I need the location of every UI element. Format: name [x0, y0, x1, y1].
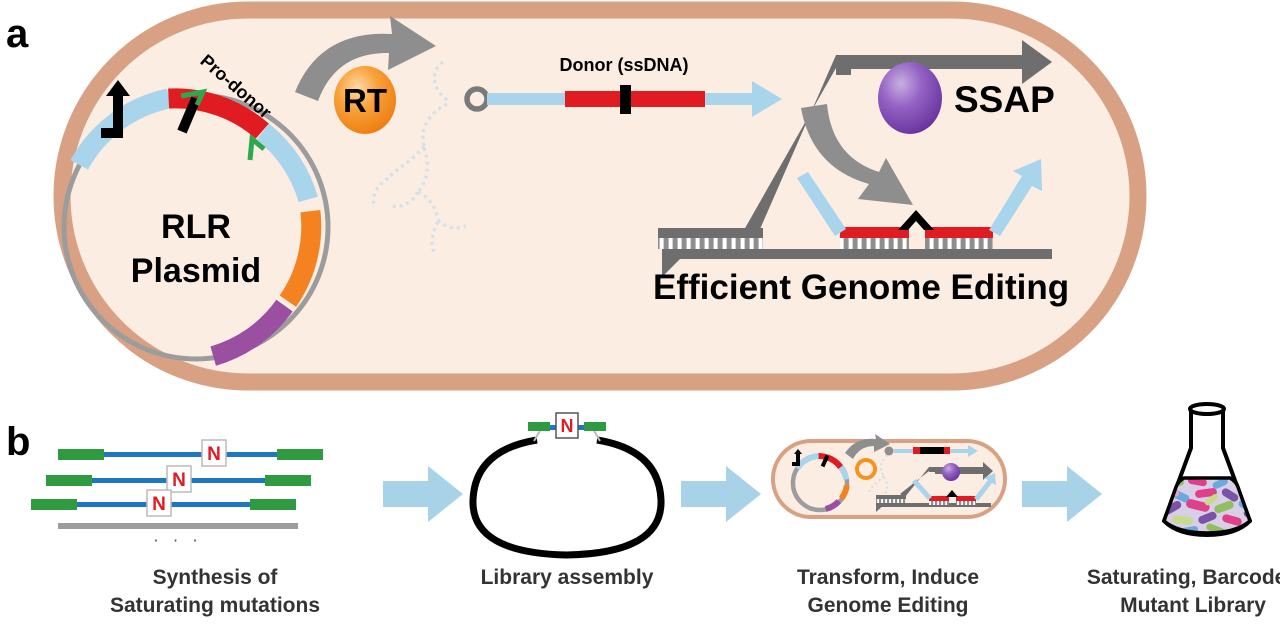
mini-annealed-core-right: [956, 496, 976, 501]
annealed-core-left: [840, 227, 909, 238]
step-library-label-line1: Library assembly: [481, 566, 654, 589]
oligo-adapter-left: [58, 449, 104, 460]
flow-arrow-1-icon: [383, 466, 463, 522]
reference-template-line: [58, 523, 298, 529]
mutation-marker-label: N: [207, 444, 221, 465]
mutation-marker-label: N: [561, 416, 574, 436]
step-transform-label-line1: Transform, Induce: [797, 566, 979, 589]
oligo-row-1: N: [58, 440, 323, 466]
annealed-core-right: [925, 227, 993, 238]
step-synthesis-label-line2: Saturating mutations: [110, 594, 320, 617]
panel-a: a: [6, 10, 1138, 382]
donor-core: [565, 91, 705, 107]
ellipsis-label: ⋅ ⋅ ⋅: [153, 533, 202, 550]
donor-arm-left: [487, 93, 565, 105]
mini-fork-basepairs: [876, 499, 906, 503]
rt-enzyme: RT: [334, 66, 396, 134]
insert-adapter-right: [584, 422, 606, 431]
annealed-basepairs-left: [840, 238, 909, 249]
mini-annealed-bp-right: [956, 501, 976, 505]
efficient-genome-editing-label: Efficient Genome Editing: [653, 268, 1069, 307]
step-transform-label-line2: Genome Editing: [807, 594, 968, 617]
oligo-row-3: N: [31, 490, 296, 516]
oligo-adapter-right: [250, 499, 296, 510]
step-transform-induce: Transform, Induce Genome Editing: [773, 434, 1005, 617]
mini-donor-mutation: [920, 447, 944, 454]
step-library-label-line1: Saturating, Barcoded: [1087, 566, 1280, 589]
step-synthesis-label-line1: Synthesis of: [153, 566, 279, 589]
annealed-basepairs-right: [925, 238, 993, 249]
plasmid-title-line2: Plasmid: [131, 252, 261, 290]
fork-basepairs: [658, 238, 763, 249]
rt-label: RT: [343, 82, 387, 119]
step-library-assembly: N Library assembly: [473, 413, 661, 589]
donor-5prime-circle: [467, 89, 487, 109]
mini-ssap-bubble: [942, 463, 960, 481]
mutation-marker-label: N: [152, 494, 166, 515]
figure-svg: a: [0, 0, 1280, 624]
ssap-bubble: [878, 62, 942, 134]
donor-label: Donor (ssDNA): [560, 55, 689, 75]
fork-lagging-strand: [662, 249, 1052, 259]
mini-donor-circle: [885, 447, 894, 456]
oligo-adapter-left: [31, 499, 77, 510]
panel-b-letter: b: [6, 420, 30, 464]
mini-annealed-core-left: [929, 496, 949, 501]
mini-donor-arm-right: [950, 449, 970, 453]
fork-duplex-top: [658, 228, 763, 238]
plasmid-title-line1: RLR: [161, 208, 231, 246]
mini-annealed-bp-left: [929, 501, 949, 505]
figure-root: a: [0, 0, 1280, 624]
flask-mouth: [1190, 404, 1224, 414]
step-library-label-line2: Mutant Library: [1120, 594, 1266, 617]
mutation-marker-label: N: [172, 470, 186, 491]
oligo-adapter-left: [46, 475, 92, 486]
ssap-label: SSAP: [954, 79, 1055, 120]
flow-arrow-3-icon: [1022, 466, 1102, 522]
oligo-adapter-right: [277, 449, 323, 460]
step-synthesis: N N N ⋅ ⋅ ⋅ Synthesis of Saturating muta…: [31, 440, 323, 617]
donor-arm-right: [705, 93, 760, 105]
donor-mutation-marker: [620, 85, 631, 114]
oligo-row-2: N: [46, 466, 311, 492]
insert-adapter-left: [528, 422, 550, 431]
flow-arrow-2-icon: [681, 466, 761, 522]
step-mutant-library: Saturating, Barcoded Mutant Library: [1087, 404, 1280, 617]
panel-a-letter: a: [6, 12, 29, 56]
mini-donor-arm-left: [894, 449, 913, 453]
oligo-adapter-right: [265, 475, 311, 486]
assembled-plasmid-circle: [473, 440, 661, 555]
panel-b: b N N N: [6, 404, 1280, 617]
mini-fork-duplex: [876, 495, 906, 499]
